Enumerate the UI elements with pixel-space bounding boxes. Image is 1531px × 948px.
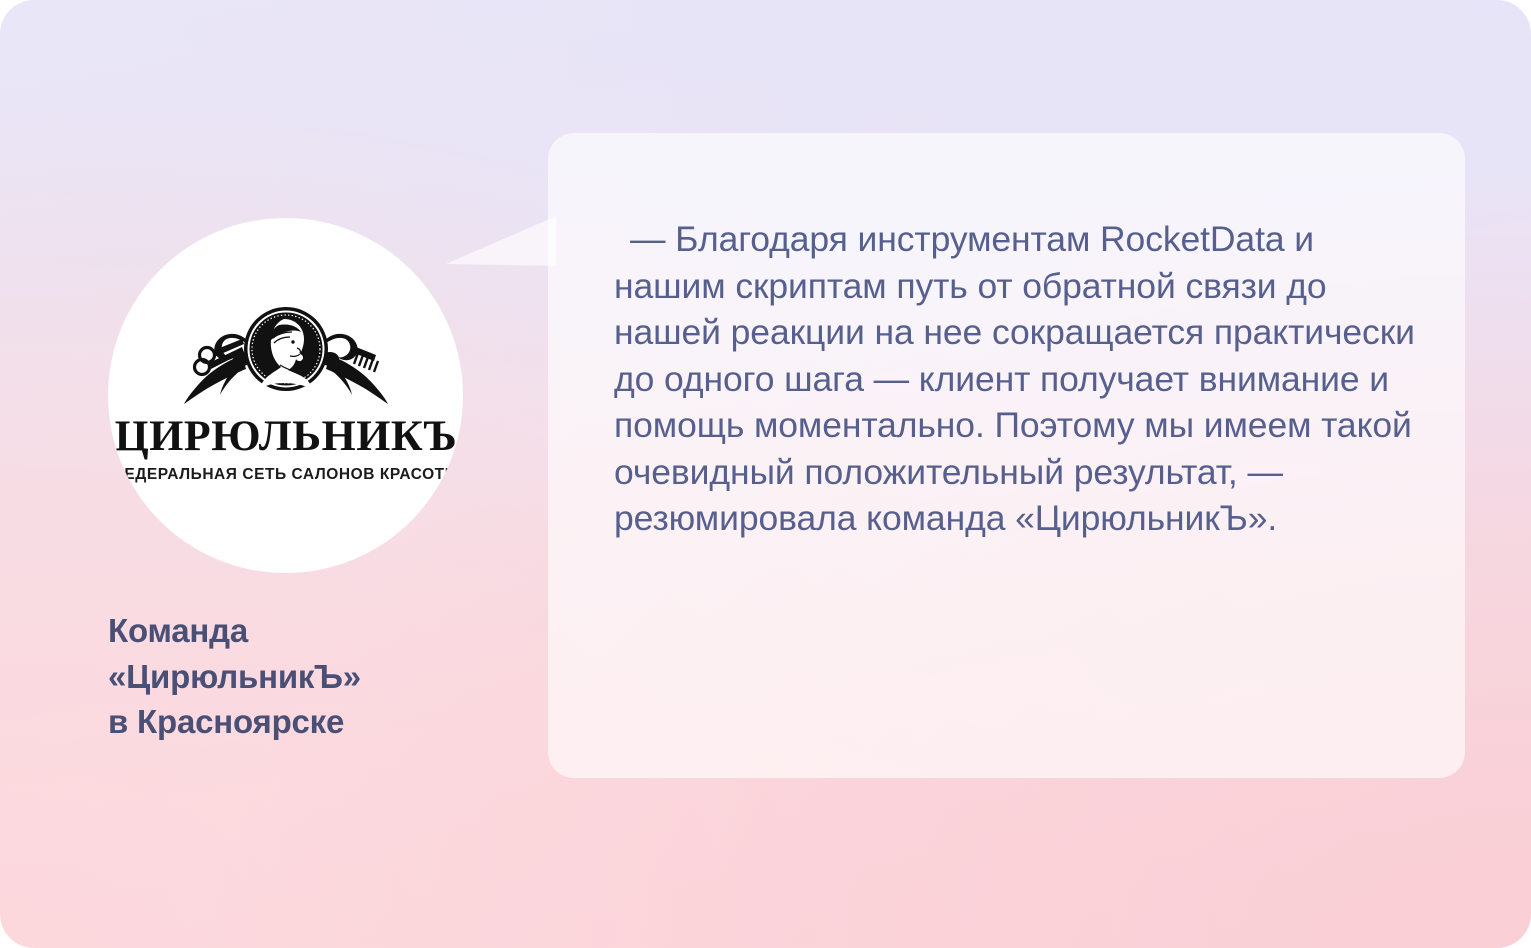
brand-column: ЦИРЮЛЬНИКЪ ФЕДЕРАЛЬНАЯ СЕТЬ САЛОНОВ КРАС… (0, 0, 520, 948)
brand-logo: ЦИРЮЛЬНИКЪ ФЕДЕРАЛЬНАЯ СЕТЬ САЛОНОВ КРАС… (121, 301, 451, 483)
speech-bubble: — Благодаря инструментам RocketData и на… (548, 133, 1465, 778)
brand-wordmark: ЦИРЮЛЬНИКЪ (114, 415, 457, 458)
brand-tagline: ФЕДЕРАЛЬНАЯ СЕТЬ САЛОНОВ КРАСОТЫ (111, 467, 461, 483)
brand-caption-line-2: «ЦирюльникЪ» (108, 654, 508, 700)
brand-caption-line-1: Команда (108, 608, 508, 654)
testimonial-card: ЦИРЮЛЬНИКЪ ФЕДЕРАЛЬНАЯ СЕТЬ САЛОНОВ КРАС… (0, 0, 1531, 948)
speech-bubble-tail (446, 216, 556, 272)
brand-caption: Команда «ЦирюльникЪ» в Красноярске (108, 608, 508, 745)
barber-medallion-emblem (180, 301, 392, 413)
avatar: ЦИРЮЛЬНИКЪ ФЕДЕРАЛЬНАЯ СЕТЬ САЛОНОВ КРАС… (108, 218, 463, 573)
brand-caption-line-3: в Красноярске (108, 699, 508, 745)
quote-text: — Благодаря инструментам RocketData и на… (614, 216, 1424, 542)
